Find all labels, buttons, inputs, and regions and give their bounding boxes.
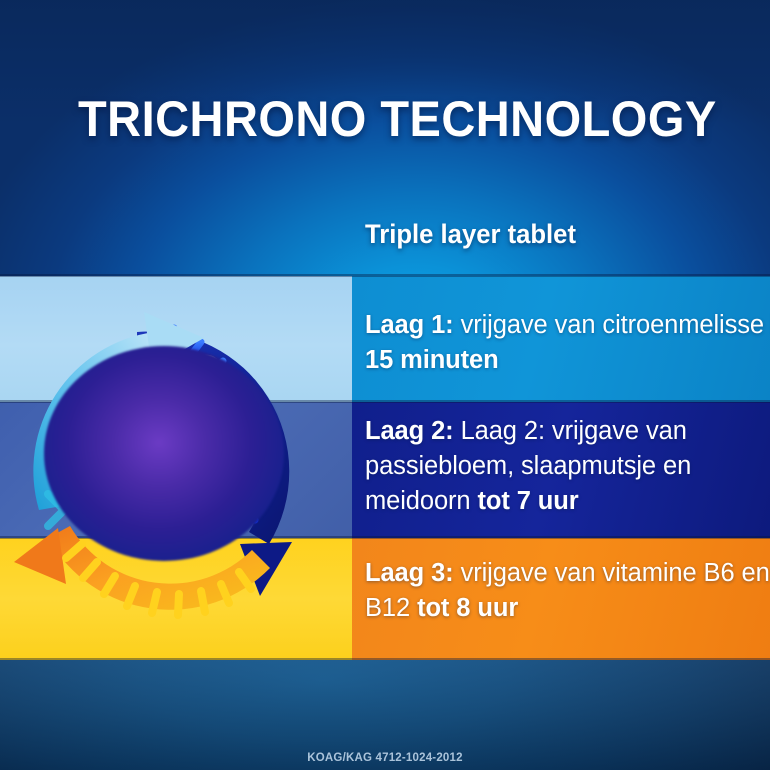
advertisement-panel: TRICHRONO TECHNOLOGY Triple layer tablet — [0, 0, 770, 770]
trichrono-cycle-diagram — [2, 286, 332, 636]
layer-1-body: vrijgave van citroenmelisse in — [454, 311, 770, 339]
layer-1-emphasis: 15 minuten — [365, 346, 499, 374]
page-title: TRICHRONO TECHNOLOGY — [78, 93, 651, 146]
layer-3-label: Laag 3: — [365, 559, 454, 587]
layer-1-description: Laag 1: vrijgave van citroenmelisse in 1… — [365, 308, 770, 378]
layer-2-label: Laag 2: — [365, 417, 454, 445]
layer-3-description: Laag 3: vrijgave van vitamine B6 en B12 … — [365, 556, 770, 626]
layer-2-emphasis: tot 7 uur — [478, 487, 579, 515]
layer-3-emphasis: tot 8 uur — [417, 594, 518, 622]
band-divider-top — [0, 274, 770, 277]
regulatory-code: KOAG/KAG 4712-1024-2012 — [0, 752, 770, 764]
layer-1-label: Laag 1: — [365, 311, 454, 339]
page-subtitle: Triple layer tablet — [365, 219, 576, 250]
diagram-inner-glow — [44, 346, 284, 561]
layer-2-description: Laag 2: Laag 2: vrijgave van passiebloem… — [365, 414, 770, 519]
